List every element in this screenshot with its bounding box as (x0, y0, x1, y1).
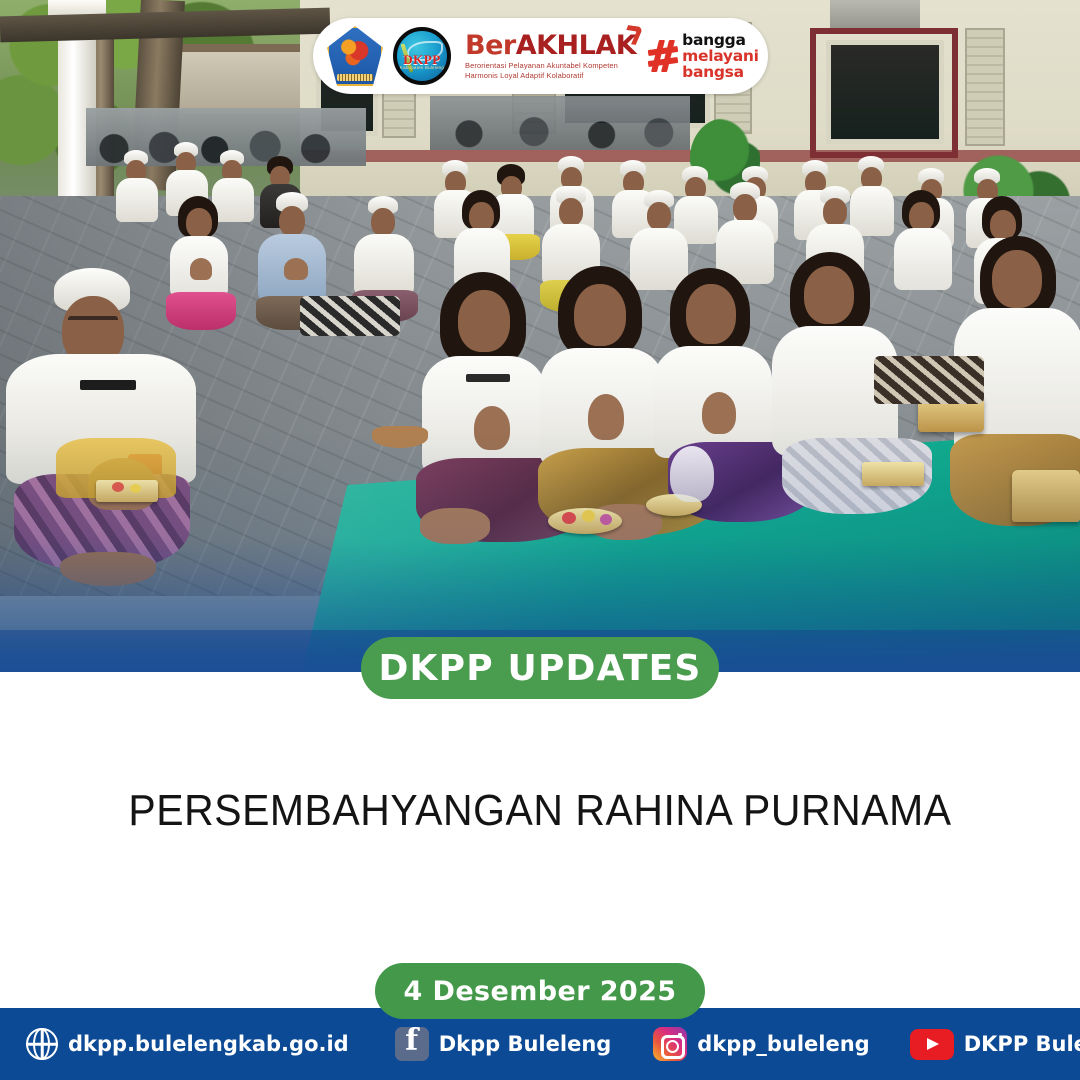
facebook-label: Dkpp Buleleng (439, 1032, 612, 1056)
instagram-label: dkpp_buleleng (697, 1032, 869, 1056)
berakhlak-logo: BerAKHLAK Berorientasi Pelayanan Akuntab… (461, 32, 636, 81)
berakhlak-suffix: AKHLAK (516, 30, 636, 61)
website-link[interactable]: dkpp.bulelengkab.go.id (26, 1028, 349, 1060)
youtube-label: DKPP Buleleng (964, 1032, 1080, 1056)
social-media-poster: DKPP Kabupaten Buleleng BerAKHLAK Berori… (0, 0, 1080, 1080)
bangga-line-1: bangga (682, 32, 758, 48)
name-tag (80, 380, 136, 390)
emblem-lion-figure (339, 38, 371, 68)
header-logo-bar: DKPP Kabupaten Buleleng BerAKHLAK Berori… (313, 18, 768, 94)
berakhlak-tagline-line-2: Harmonis Loyal Adaptif Kolaboratif (465, 71, 636, 81)
buleleng-regency-emblem (327, 26, 383, 86)
bangga-line-2: melayani (682, 48, 758, 64)
batik-bag-left (300, 296, 400, 336)
youtube-link[interactable]: DKPP Buleleng (910, 1029, 1080, 1060)
event-photo (0, 0, 1080, 672)
berakhlak-swoosh-icon (621, 25, 644, 45)
emblem-motto-scroll (337, 74, 373, 81)
event-date-label: 4 Desember 2025 (404, 976, 677, 1007)
parked-motorcycles-right (430, 96, 690, 150)
bangga-wordmark: bangga melayani bangsa (682, 32, 758, 80)
instagram-link[interactable]: dkpp_buleleng (653, 1027, 869, 1061)
facebook-icon (395, 1027, 429, 1061)
batik-bag-right (874, 356, 984, 404)
dkpp-logo: DKPP Kabupaten Buleleng (393, 27, 451, 85)
window-right (826, 40, 944, 144)
hashtag-icon (648, 40, 678, 72)
bangga-melayani-bangsa-logo: bangga melayani bangsa (648, 32, 758, 80)
facebook-link[interactable]: Dkpp Buleleng (395, 1027, 612, 1061)
dkpp-updates-label: DKPP UPDATES (378, 648, 701, 689)
berakhlak-wordmark: BerAKHLAK (465, 32, 636, 59)
website-label: dkpp.bulelengkab.go.id (68, 1032, 349, 1056)
eyeglasses (68, 316, 118, 328)
window-shutter-far-right (965, 28, 1005, 146)
globe-icon (26, 1028, 58, 1060)
name-tag-woman-1 (466, 374, 510, 382)
berakhlak-prefix: Ber (465, 30, 516, 61)
page-title: PERSEMBAHYANGAN RAHINA PURNAMA (38, 786, 1042, 836)
dkpp-updates-badge: DKPP UPDATES (361, 637, 719, 699)
berakhlak-tagline: Berorientasi Pelayanan Akuntabel Kompete… (465, 61, 636, 81)
bangga-line-3: bangsa (682, 64, 758, 80)
dkpp-logo-subtitle: Kabupaten Buleleng (399, 65, 445, 70)
event-date-badge: 4 Desember 2025 (375, 963, 705, 1019)
berakhlak-tagline-line-1: Berorientasi Pelayanan Akuntabel Kompete… (465, 61, 636, 71)
content-area (0, 672, 1080, 1008)
youtube-icon (910, 1029, 954, 1060)
instagram-icon (653, 1027, 687, 1061)
